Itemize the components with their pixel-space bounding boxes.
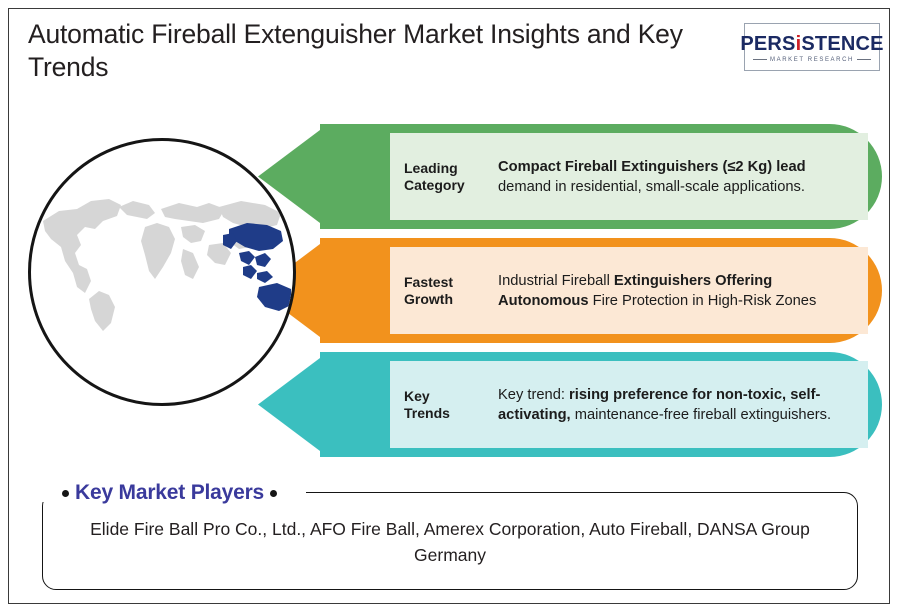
- row-label-line2: Growth: [404, 291, 498, 308]
- row-content-panel: Key Trends Key trend: rising preference …: [390, 361, 868, 448]
- players-list: Elide Fire Ball Pro Co., Ltd., AFO Fire …: [52, 516, 848, 568]
- page-title: Automatic Fireball Extenguisher Market I…: [28, 18, 748, 84]
- world-map-circle: [28, 138, 296, 406]
- row-pill: Leading Category Compact Fireball Exting…: [320, 124, 882, 229]
- row-label-line1: Key: [404, 388, 498, 405]
- row-label: Key Trends: [390, 388, 498, 422]
- row-arrow-icon: [258, 352, 328, 457]
- world-map-icon: [33, 183, 295, 333]
- header: Automatic Fireball Extenguisher Market I…: [28, 18, 748, 96]
- row-description: Industrial Fireball Extinguishers Offeri…: [498, 271, 868, 311]
- row-pill: Key Trends Key trend: rising preference …: [320, 352, 882, 457]
- bullet-dot-left-icon: [62, 490, 69, 497]
- logo-wordmark-part1: PERS: [740, 33, 795, 55]
- row-label-line2: Category: [404, 177, 498, 194]
- row-content-panel: Leading Category Compact Fireball Exting…: [390, 133, 868, 220]
- players-title: Key Market Players: [75, 481, 264, 505]
- row-label-line1: Fastest: [404, 274, 498, 291]
- logo-tagline: MARKET RESEARCH: [770, 57, 854, 63]
- players-title-group: Key Market Players: [62, 481, 277, 505]
- logo-rule-right-icon: [857, 59, 871, 60]
- bullet-dot-right-icon: [270, 490, 277, 497]
- row-key-trends: Key Trends Key trend: rising preference …: [258, 352, 882, 457]
- row-description-bold-0: Compact Fireball Extinguishers (≤2 Kg) l…: [498, 159, 806, 175]
- infographic-canvas: Automatic Fireball Extenguisher Market I…: [0, 0, 900, 614]
- row-label-line1: Leading: [404, 160, 498, 177]
- row-label: Leading Category: [390, 160, 498, 194]
- row-description: Compact Fireball Extinguishers (≤2 Kg) l…: [498, 157, 868, 197]
- row-description-plain-0: Key trend:: [498, 387, 569, 403]
- row-description-plain-2: maintenance-free fireball extinguishers.: [571, 407, 831, 423]
- logo-rule-left-icon: [753, 59, 767, 60]
- row-fastest-growth: Fastest Growth Industrial Fireball Extin…: [258, 238, 882, 343]
- row-description: Key trend: rising preference for non-tox…: [498, 385, 868, 425]
- row-description-plain-1: demand in residential, small-scale appli…: [498, 179, 805, 195]
- row-content-panel: Fastest Growth Industrial Fireball Extin…: [390, 247, 868, 334]
- logo-wordmark-part2: STENCE: [801, 33, 883, 55]
- row-description-plain-2: Fire Protection in High-Risk Zones: [589, 293, 817, 309]
- logo-wordmark: PERSiSTENCE: [740, 34, 883, 55]
- row-label: Fastest Growth: [390, 274, 498, 308]
- row-description-plain-0: Industrial Fireball: [498, 273, 614, 289]
- logo-tagline-row: MARKET RESEARCH: [753, 57, 871, 63]
- row-pill: Fastest Growth Industrial Fireball Extin…: [320, 238, 882, 343]
- brand-logo: PERSiSTENCE MARKET RESEARCH: [744, 23, 880, 71]
- row-leading-category: Leading Category Compact Fireball Exting…: [258, 124, 882, 229]
- row-label-line2: Trends: [404, 405, 498, 422]
